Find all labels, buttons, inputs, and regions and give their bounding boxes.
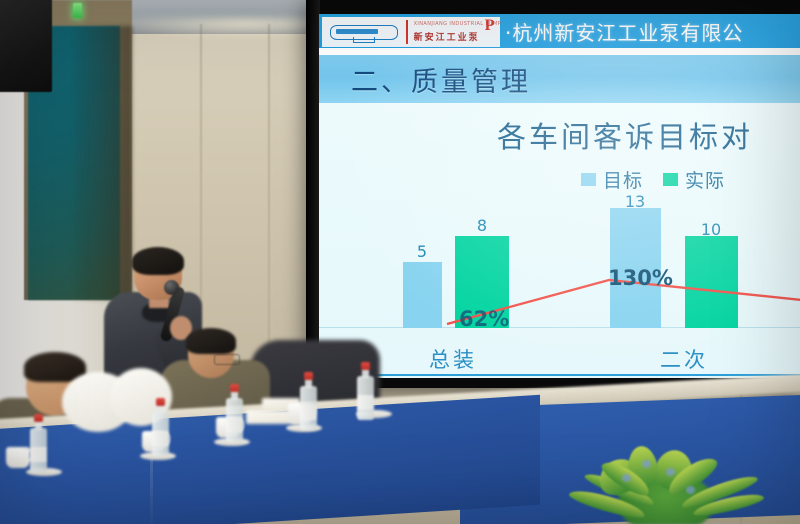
water-bottle [152, 398, 169, 456]
company-logo: XINANJIANG INDUSTRIAL PUMP 新安江工业泵 P [322, 17, 500, 47]
screen-bezel-left [306, 0, 320, 388]
water-bottle [30, 414, 47, 472]
legend-item-actual: 实际 [663, 166, 725, 193]
legend-swatch-actual [663, 173, 678, 186]
water-bottle [226, 384, 243, 442]
trend-line [319, 194, 800, 378]
legend-label-actual: 实际 [685, 166, 725, 193]
glasses-icon [214, 354, 240, 365]
water-bottle [300, 372, 317, 430]
legend-swatch-target [581, 173, 596, 186]
slide-header: XINANJIANG INDUSTRIAL PUMP 新安江工业泵 P ·杭州新… [319, 14, 800, 48]
section-title: 二、质量管理 [351, 60, 531, 99]
conference-room-photo: XINANJIANG INDUSTRIAL PUMP 新安江工业泵 P ·杭州新… [0, 0, 800, 524]
slide-bottom-rule [319, 374, 800, 376]
potted-plant [560, 438, 770, 524]
coffee-cup [6, 444, 32, 468]
section-title-band: 二、质量管理 [319, 55, 800, 103]
company-name-heading: ·杭州新安江工业泵有限公 [505, 17, 743, 46]
logo-divider [406, 20, 408, 44]
chart-plot-area: 5 8 总装 13 10 二次 62% 130% [319, 194, 800, 378]
exit-sign-icon [73, 3, 82, 18]
slide-white-divider [319, 48, 800, 55]
legend-label-target: 目标 [603, 166, 643, 193]
pump-logo-icon [327, 21, 401, 43]
chart-title: 各车间客诉目标对 [497, 114, 753, 156]
legend-item-target: 目标 [581, 166, 643, 193]
ceiling-speaker-box [0, 0, 52, 92]
presentation-slide: XINANJIANG INDUSTRIAL PUMP 新安江工业泵 P ·杭州新… [319, 14, 800, 378]
logo-letter-p: P [485, 18, 495, 34]
water-bottle [357, 362, 374, 420]
trend-label-1: 130% [608, 266, 673, 290]
chart-legend: 目标 实际 [581, 166, 725, 193]
logo-text: XINANJIANG INDUSTRIAL PUMP 新安江工业泵 P [413, 19, 500, 45]
logo-chinese-text: 新安江工业泵 [414, 30, 480, 43]
trend-label-0: 62% [459, 307, 509, 331]
